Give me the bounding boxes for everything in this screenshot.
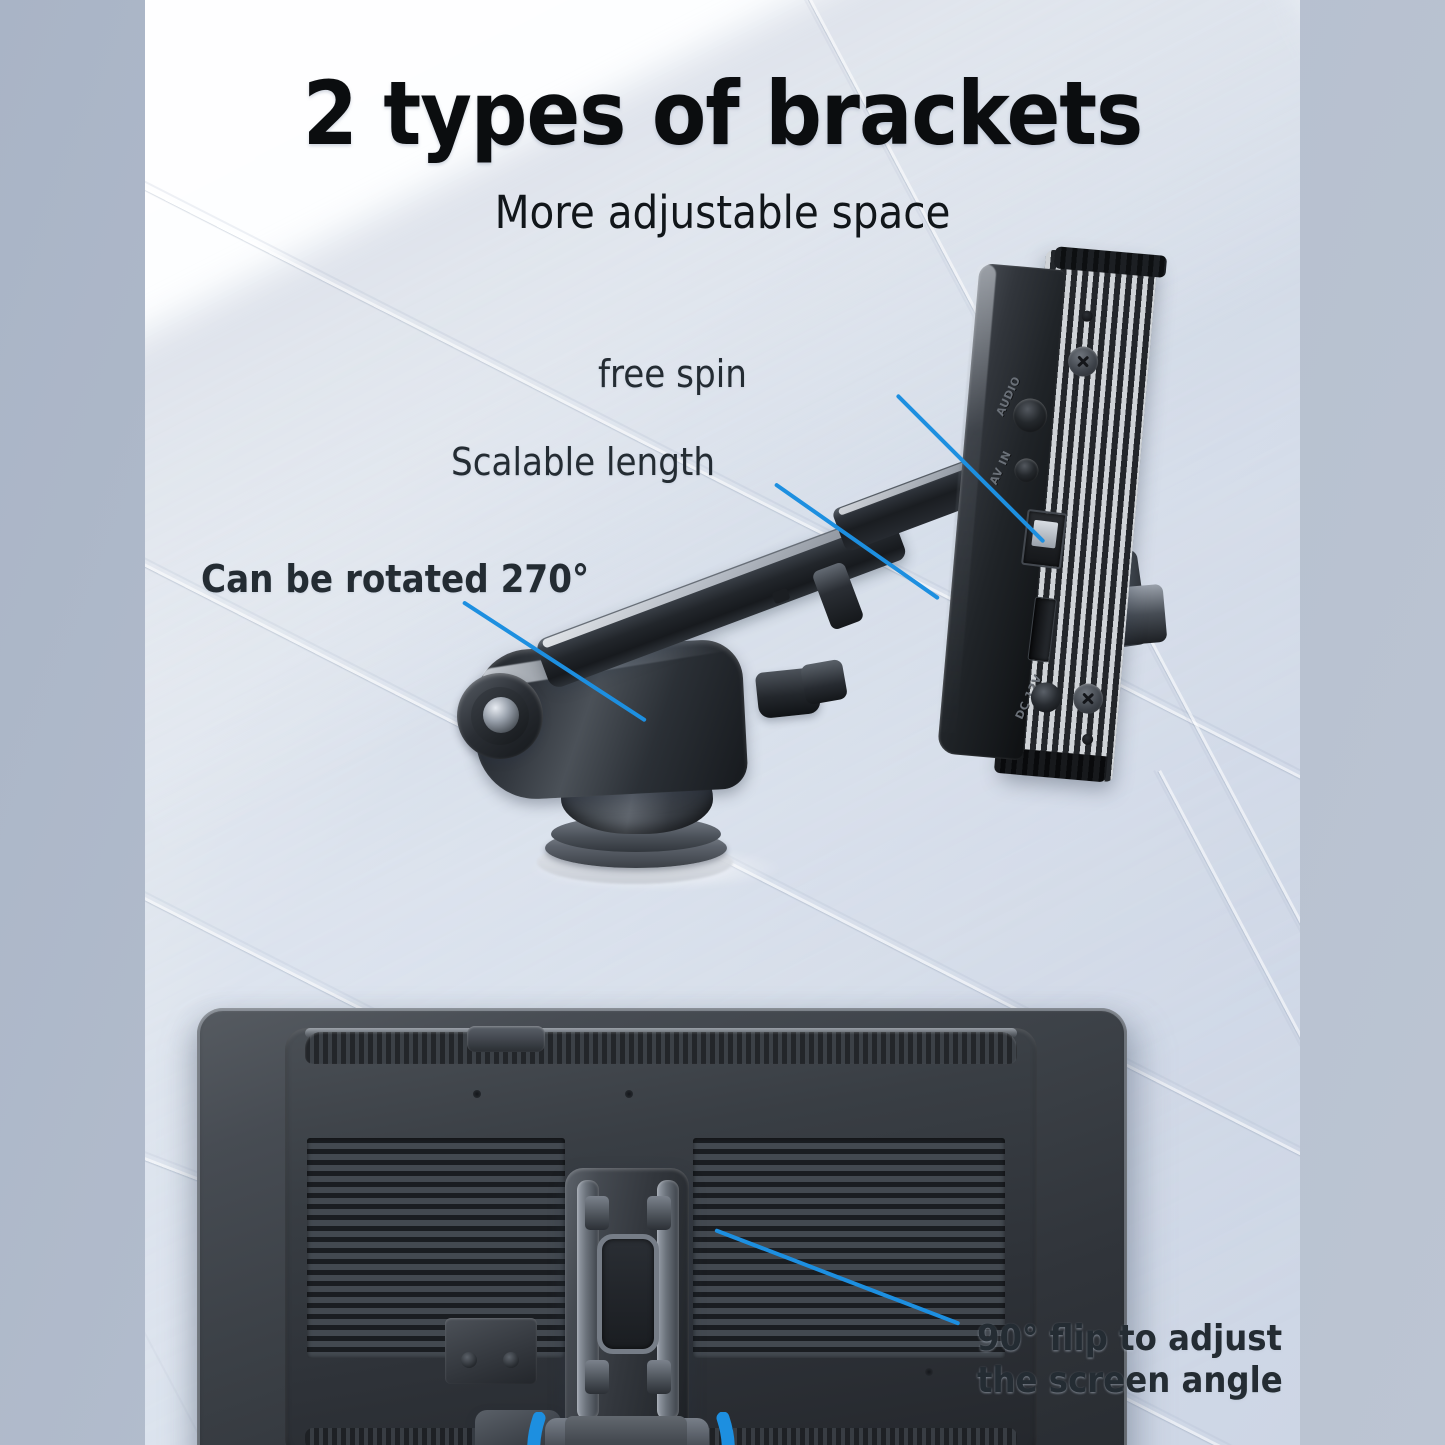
callout-label-scalable-length: Scalable length xyxy=(451,440,715,484)
bracket-notch-top-left xyxy=(585,1196,609,1230)
rear-pinhole-left xyxy=(473,1090,481,1098)
bracket-center-slot xyxy=(597,1234,659,1354)
callout-label-flip-90-line1: 90° flip to adjust xyxy=(977,1318,1283,1360)
rear-access-plate xyxy=(445,1318,537,1384)
callout-label-free-spin: free spin xyxy=(598,352,747,396)
bracket-notch-bottom-right xyxy=(647,1360,671,1394)
access-plate-screw-right-icon xyxy=(503,1352,519,1368)
callout-label-flip-90-line2: the screen angle xyxy=(977,1360,1283,1402)
flip-arrow-right-icon xyxy=(643,1412,739,1445)
access-plate-screw-left-icon xyxy=(461,1352,477,1368)
bracket-notch-bottom-left xyxy=(585,1360,609,1394)
bracket-notch-top-right xyxy=(647,1196,671,1230)
rear-camera-housing xyxy=(467,1026,545,1052)
arm-release-lever-secondary xyxy=(800,659,848,706)
photo-canvas: 2 types of brackets More adjustable spac… xyxy=(145,0,1300,1445)
callout-label-flip-90: 90° flip to adjust the screen angle xyxy=(977,1318,1283,1403)
rear-pinhole-right xyxy=(625,1090,633,1098)
display-top-vent xyxy=(305,1032,1017,1064)
flip-arrow-left-icon xyxy=(523,1412,619,1445)
callout-label-rotate-270: Can be rotated 270° xyxy=(201,557,589,601)
infographic-page: 2 types of brackets More adjustable spac… xyxy=(0,0,1445,1445)
rear-pinhole-lower-right xyxy=(925,1368,933,1376)
rotation-hub-ball xyxy=(483,697,519,733)
